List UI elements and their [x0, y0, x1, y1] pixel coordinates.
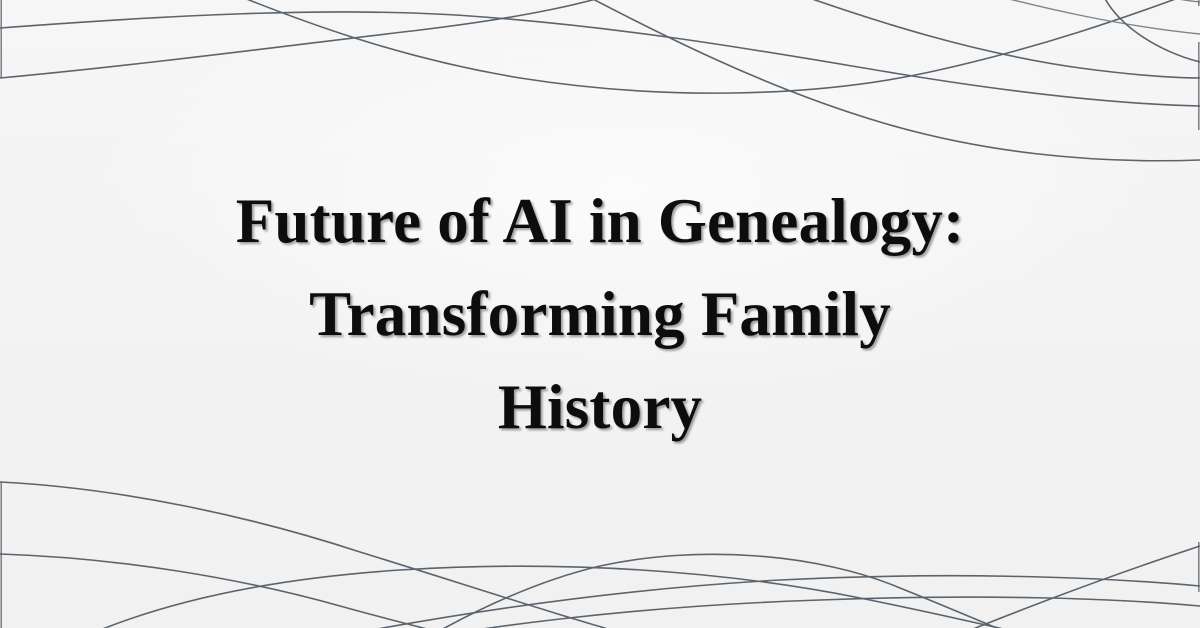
- title-container: Future of AI in Genealogy: Transforming …: [0, 0, 1200, 628]
- page-title: Future of AI in Genealogy: Transforming …: [96, 175, 1104, 454]
- social-card: Future of AI in Genealogy: Transforming …: [0, 0, 1200, 628]
